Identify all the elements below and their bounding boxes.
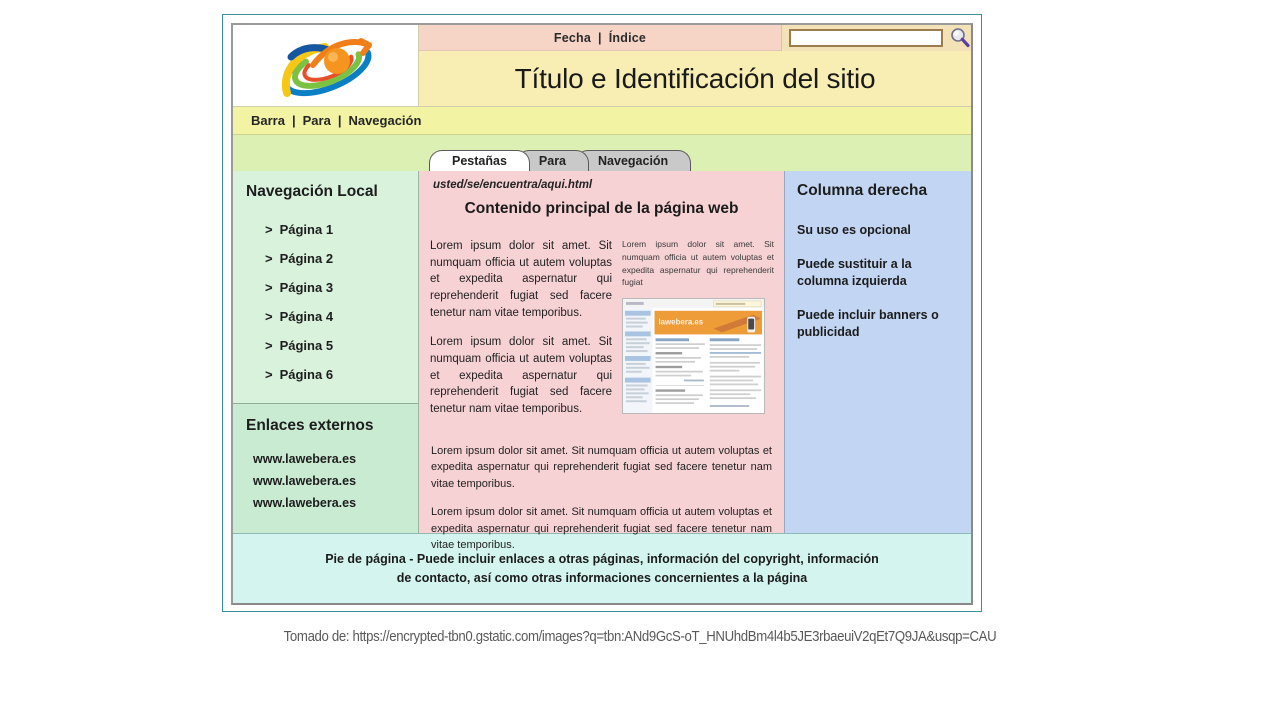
main-content: usted/se/encuentra/aqui.html Contenido p… bbox=[419, 171, 785, 533]
sidebar-item-label: Página 5 bbox=[280, 338, 333, 353]
right-column-title: Columna derecha bbox=[785, 182, 971, 200]
sidebar-item-label: Página 6 bbox=[280, 367, 333, 382]
sidebar-item-pagina-1[interactable]: > Página 1 bbox=[233, 215, 418, 244]
chevron-right-icon: > bbox=[265, 367, 273, 382]
main-text-column: Lorem ipsum dolor sit amet. Sit numquam … bbox=[424, 238, 612, 431]
nav-item-barra[interactable]: Barra bbox=[251, 113, 285, 128]
chevron-right-icon: > bbox=[265, 251, 273, 266]
sidebar-item-pagina-5[interactable]: > Página 5 bbox=[233, 331, 418, 360]
chevron-right-icon: > bbox=[265, 280, 273, 295]
figure-frame: Fecha | Índice bbox=[222, 14, 982, 612]
chevron-right-icon: > bbox=[265, 338, 273, 353]
sidebar-item-pagina-3[interactable]: > Página 3 bbox=[233, 273, 418, 302]
main-upper-section: Lorem ipsum dolor sit amet. Sit numquam … bbox=[419, 218, 784, 431]
page-title: Título e Identificación del sitio bbox=[515, 63, 876, 95]
logo-cell[interactable] bbox=[233, 25, 419, 107]
header-main: Fecha | Índice bbox=[419, 25, 971, 107]
main-side-column: Lorem ipsum dolor sit amet. Sit numquam … bbox=[622, 238, 774, 431]
tab-label: Navegación bbox=[598, 154, 668, 168]
svg-text:lawebera.es: lawebera.es bbox=[658, 318, 703, 327]
nav-separator: | bbox=[338, 113, 342, 128]
sidebar-item-label: Página 3 bbox=[280, 280, 333, 295]
external-links-title: Enlaces externos bbox=[233, 417, 418, 435]
sidebar-item-pagina-4[interactable]: > Página 4 bbox=[233, 302, 418, 331]
left-sidebar: Navegación Local > Página 1 > Página 2 >… bbox=[233, 171, 419, 533]
website-screenshot-thumbnail[interactable]: lawebera.es bbox=[622, 298, 765, 414]
body-paragraph: Lorem ipsum dolor sit amet. Sit numquam … bbox=[431, 504, 772, 554]
search-area bbox=[781, 25, 971, 51]
orbit-swoosh-logo-icon bbox=[251, 31, 401, 101]
side-paragraph: Lorem ipsum dolor sit amet. Sit numquam … bbox=[622, 238, 774, 289]
title-band: Título e Identificación del sitio bbox=[419, 51, 971, 107]
website-layout-mockup: Fecha | Índice bbox=[231, 23, 973, 605]
global-nav-bar: Barra | Para | Navegación bbox=[233, 107, 971, 135]
breadcrumb: usted/se/encuentra/aqui.html bbox=[419, 171, 784, 191]
sidebar-item-pagina-2[interactable]: > Página 2 bbox=[233, 244, 418, 273]
sidebar-item-label: Página 1 bbox=[280, 222, 333, 237]
local-nav-panel: Navegación Local > Página 1 > Página 2 >… bbox=[233, 171, 418, 404]
external-links-panel: Enlaces externos www.lawebera.es www.law… bbox=[233, 404, 418, 533]
body-paragraph: Lorem ipsum dolor sit amet. Sit numquam … bbox=[430, 238, 612, 321]
date-link[interactable]: Fecha bbox=[554, 31, 591, 45]
sidebar-item-label: Página 2 bbox=[280, 251, 333, 266]
chevron-right-icon: > bbox=[265, 222, 273, 237]
tab-pestanas[interactable]: Pestañas bbox=[429, 150, 530, 171]
magnifier-icon[interactable] bbox=[949, 27, 971, 49]
meta-bar: Fecha | Índice bbox=[419, 25, 781, 51]
tab-label: Pestañas bbox=[452, 154, 507, 168]
footer-line-2: de contacto, así como otras informacione… bbox=[325, 569, 879, 587]
right-column-note: Puede sustituir a la columna izquierda bbox=[785, 256, 971, 290]
page-header: Fecha | Índice bbox=[233, 25, 971, 107]
nav-item-para[interactable]: Para bbox=[303, 113, 331, 128]
slide-canvas: Fecha | Índice bbox=[0, 0, 1280, 720]
sidebar-item-label: Página 4 bbox=[280, 309, 333, 324]
external-link[interactable]: www.lawebera.es bbox=[233, 492, 418, 514]
tab-navegacion[interactable]: Navegación bbox=[575, 150, 691, 171]
tabs-strip: Pestañas Para Navegación bbox=[233, 135, 971, 171]
nav-item-navegacion[interactable]: Navegación bbox=[348, 113, 421, 128]
body-paragraph: Lorem ipsum dolor sit amet. Sit numquam … bbox=[430, 334, 612, 417]
nav-separator: | bbox=[292, 113, 296, 128]
right-column-note: Su uso es opcional bbox=[785, 222, 971, 239]
chevron-right-icon: > bbox=[265, 309, 273, 324]
right-column-note: Puede incluir banners o publicidad bbox=[785, 307, 971, 341]
search-input[interactable] bbox=[789, 29, 943, 47]
meta-separator: | bbox=[598, 31, 602, 45]
sidebar-item-pagina-6[interactable]: > Página 6 bbox=[233, 360, 418, 389]
index-link[interactable]: Índice bbox=[609, 31, 646, 45]
body-paragraph: Lorem ipsum dolor sit amet. Sit numquam … bbox=[431, 443, 772, 493]
external-link[interactable]: www.lawebera.es bbox=[233, 470, 418, 492]
source-caption: Tomado de: https://encrypted-tbn0.gstati… bbox=[77, 628, 1203, 645]
local-nav-title: Navegación Local bbox=[233, 183, 418, 201]
header-top-row: Fecha | Índice bbox=[419, 25, 971, 51]
body-columns: Navegación Local > Página 1 > Página 2 >… bbox=[233, 171, 971, 533]
main-lower-section: Lorem ipsum dolor sit amet. Sit numquam … bbox=[419, 431, 784, 566]
main-heading: Contenido principal de la página web bbox=[419, 191, 784, 218]
external-link[interactable]: www.lawebera.es bbox=[233, 448, 418, 470]
right-sidebar: Columna derecha Su uso es opcional Puede… bbox=[785, 171, 971, 533]
tab-label: Para bbox=[539, 154, 566, 168]
